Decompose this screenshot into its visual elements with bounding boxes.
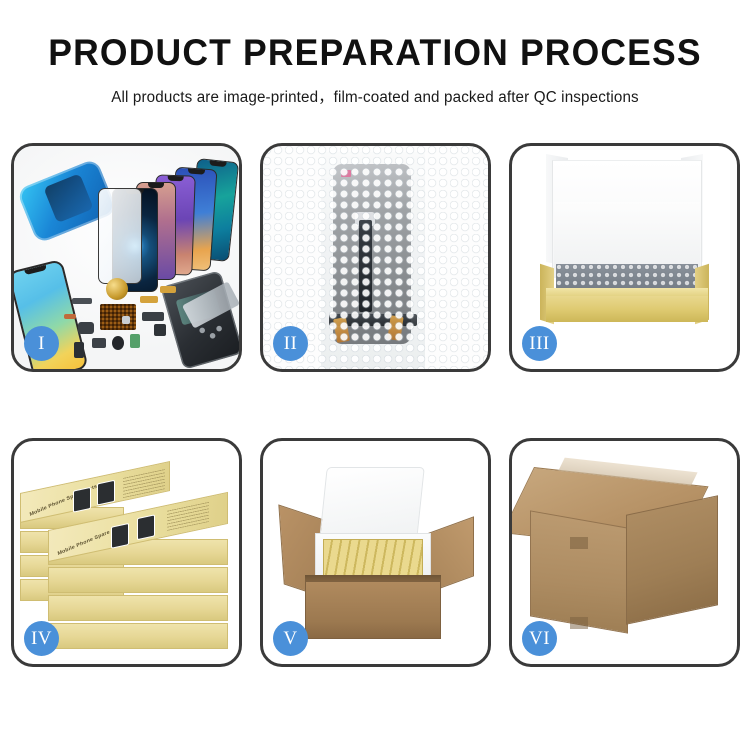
box-print-screen-icon: [137, 514, 155, 540]
stacked-box: [48, 567, 228, 593]
spare-part-icon: [92, 338, 106, 348]
spare-part-icon: [142, 312, 164, 321]
foam-case-lid: [319, 467, 425, 539]
step-panel-6: VI: [509, 438, 740, 667]
step-badge-3: III: [522, 326, 557, 361]
notch-icon: [209, 160, 226, 167]
gold-coil-part-icon: [106, 278, 128, 300]
box-front-panel: [546, 296, 708, 322]
steps-grid: I II: [11, 143, 739, 667]
connector-array-part-icon: [100, 304, 136, 330]
step-panel-2: II: [260, 143, 491, 372]
step-panel-5: V: [260, 438, 491, 667]
carton-seam: [570, 617, 588, 629]
notch-icon: [24, 265, 46, 275]
box-print-screen-icon: [97, 480, 115, 506]
carton-side-face: [626, 495, 718, 625]
step-panel-1: I: [11, 143, 242, 372]
spare-part-icon: [130, 334, 140, 348]
carton-body: [305, 581, 441, 639]
stacked-box: [48, 623, 228, 649]
notch-icon: [168, 176, 184, 182]
screws-icon: [197, 325, 223, 343]
spare-part-icon: [154, 324, 166, 336]
step-badge-2: II: [273, 326, 308, 361]
spare-part-icon: [140, 296, 158, 303]
box-print-screen-icon: [111, 523, 129, 549]
box-print-text-lines: [123, 467, 165, 498]
spare-part-icon: [160, 286, 176, 293]
carton-seam: [570, 537, 588, 549]
stacked-box: [48, 595, 228, 621]
step-badge-4: IV: [24, 621, 59, 656]
step-panel-3: III: [509, 143, 740, 372]
box-print-text-lines: [167, 500, 209, 531]
page-title: PRODUCT PREPARATION PROCESS: [15, 34, 735, 73]
box-print-screen-icon: [73, 487, 91, 513]
notch-icon: [188, 169, 205, 175]
tempered-glass-film-icon: [98, 188, 142, 284]
spare-part-icon: [64, 314, 76, 319]
product-preparation-infographic: PRODUCT PREPARATION PROCESS All products…: [0, 0, 750, 750]
spare-part-icon: [122, 316, 130, 324]
step-badge-6: VI: [522, 621, 557, 656]
page-subtitle: All products are image-printed，film-coat…: [8, 85, 743, 107]
step-badge-5: V: [273, 621, 308, 656]
header: PRODUCT PREPARATION PROCESS All products…: [0, 0, 750, 107]
spare-part-icon: [78, 322, 94, 334]
carton-front-face: [530, 510, 628, 633]
step-panel-4: Mobile Phone Spare Parts Mobile Phone Sp…: [11, 438, 242, 667]
spare-part-icon: [74, 342, 84, 358]
spare-part-icon: [72, 298, 92, 304]
step-badge-1: I: [24, 326, 59, 361]
spare-part-icon: [112, 336, 124, 350]
